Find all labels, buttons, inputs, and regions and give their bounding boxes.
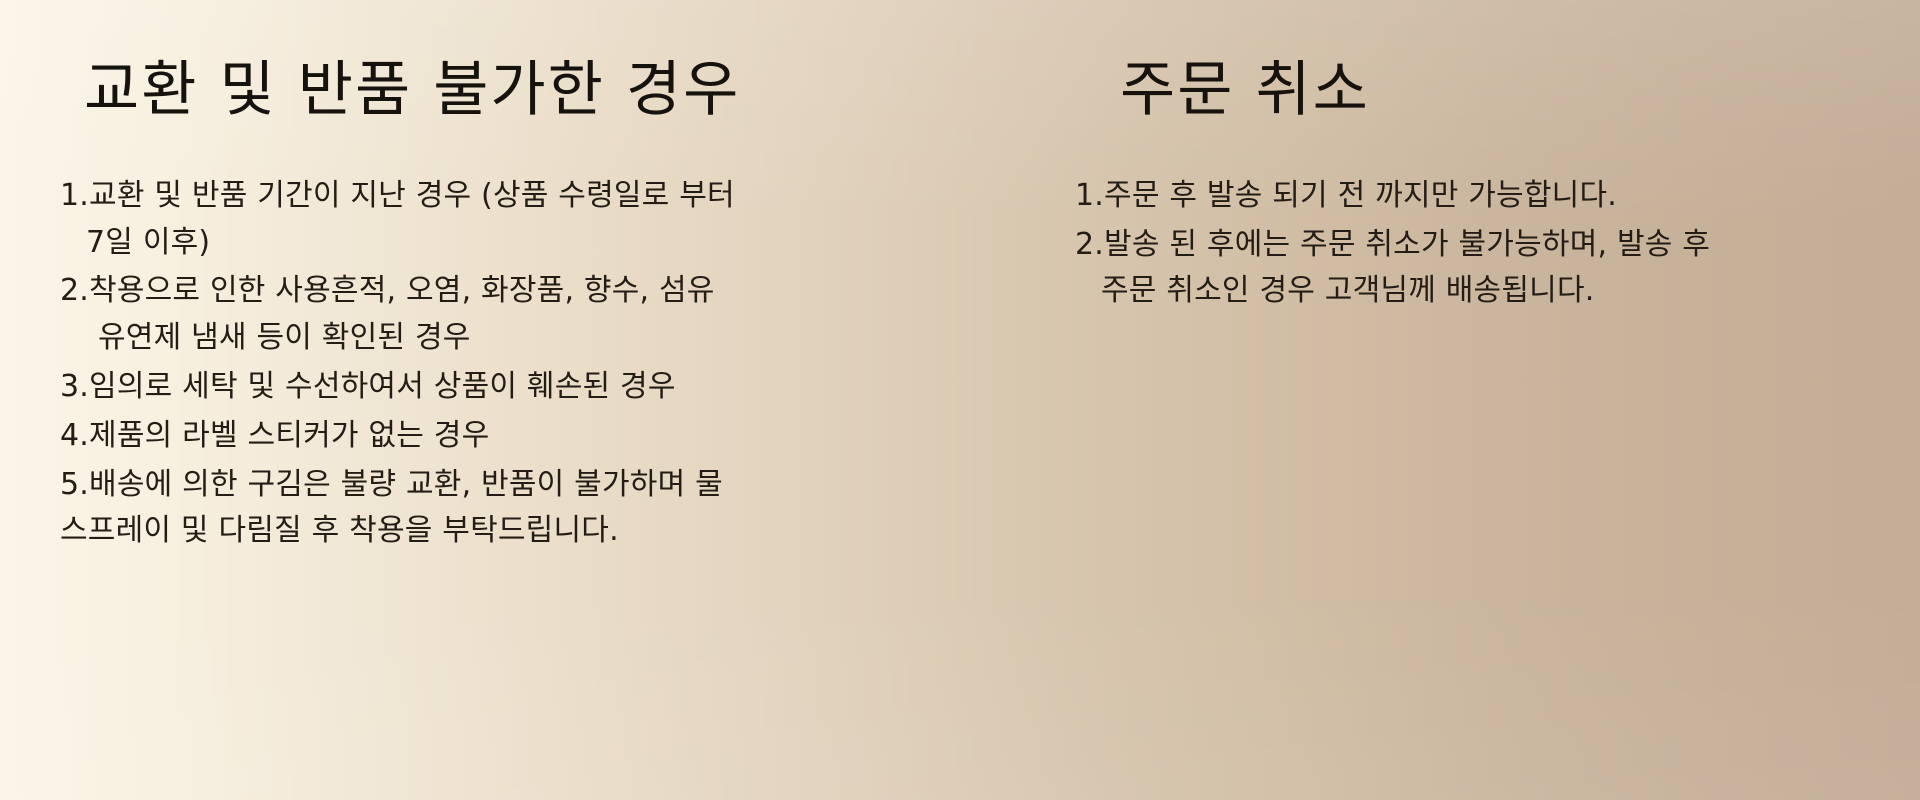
list-item: 2.착용으로 인한 사용흔적, 오염, 화장품, 향수, 섬유유연제 냄새 등이… [60, 268, 960, 362]
list-item: 3.임의로 세탁 및 수선하여서 상품이 훼손된 경우 [60, 364, 960, 411]
list-item-line: 2.착용으로 인한 사용흔적, 오염, 화장품, 향수, 섬유 [60, 268, 960, 315]
two-column-layout: 교환 및 반품 불가한 경우 1.교환 및 반품 기간이 지난 경우 (상품 수… [0, 0, 1920, 800]
left-section-title: 교환 및 반품 불가한 경우 [0, 52, 960, 129]
list-item: 1.주문 후 발송 되기 전 까지만 가능합니다. [1075, 173, 1920, 220]
right-item-list: 1.주문 후 발송 되기 전 까지만 가능합니다.2.발송 된 후에는 주문 취… [960, 173, 1920, 315]
column-exchange-return-exclusions: 교환 및 반품 불가한 경우 1.교환 및 반품 기간이 지난 경우 (상품 수… [0, 0, 960, 800]
list-item-line: 1.교환 및 반품 기간이 지난 경우 (상품 수령일로 부터 [60, 173, 960, 220]
list-item-line: 7일 이후) [60, 220, 960, 267]
list-item-line: 1.주문 후 발송 되기 전 까지만 가능합니다. [1075, 173, 1920, 220]
list-item: 5.배송에 의한 구김은 불량 교환, 반품이 불가하며 물스프레이 및 다림질… [60, 462, 960, 556]
list-item-line: 유연제 냄새 등이 확인된 경우 [60, 315, 960, 362]
column-order-cancellation: 주문 취소 1.주문 후 발송 되기 전 까지만 가능합니다.2.발송 된 후에… [960, 0, 1920, 800]
right-section-title: 주문 취소 [960, 52, 1920, 129]
list-item-line: 3.임의로 세탁 및 수선하여서 상품이 훼손된 경우 [60, 364, 960, 411]
list-item-line: 5.배송에 의한 구김은 불량 교환, 반품이 불가하며 물 [60, 462, 960, 509]
list-item: 4.제품의 라벨 스티커가 없는 경우 [60, 413, 960, 460]
list-item-line: 2.발송 된 후에는 주문 취소가 불가능하며, 발송 후 [1075, 222, 1920, 269]
list-item-line: 주문 취소인 경우 고객님께 배송됩니다. [1075, 268, 1920, 315]
notice-page: 교환 및 반품 불가한 경우 1.교환 및 반품 기간이 지난 경우 (상품 수… [0, 0, 1920, 800]
list-item-line: 스프레이 및 다림질 후 착용을 부탁드립니다. [60, 508, 960, 555]
list-item: 1.교환 및 반품 기간이 지난 경우 (상품 수령일로 부터7일 이후) [60, 173, 960, 267]
list-item: 2.발송 된 후에는 주문 취소가 불가능하며, 발송 후주문 취소인 경우 고… [1075, 222, 1920, 316]
left-item-list: 1.교환 및 반품 기간이 지난 경우 (상품 수령일로 부터7일 이후)2.착… [0, 173, 960, 555]
list-item-line: 4.제품의 라벨 스티커가 없는 경우 [60, 413, 960, 460]
